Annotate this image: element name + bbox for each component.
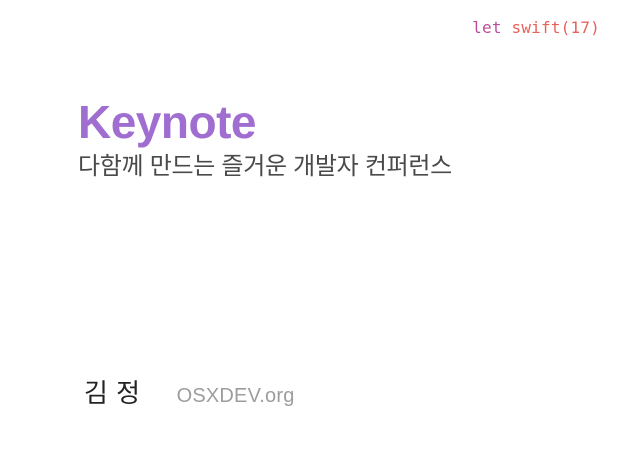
presenter-name: 김 정 <box>84 378 141 408</box>
presenter-block: 김 정 OSXDEV.org <box>84 378 295 408</box>
conference-mark: let swift(17) <box>472 18 600 38</box>
page-title: Keynote <box>78 96 598 148</box>
title-block: Keynote 다함께 만드는 즐거운 개발자 컨퍼런스 <box>78 96 598 182</box>
presenter-organization: OSXDEV.org <box>177 384 295 408</box>
page-subtitle: 다함께 만드는 즐거운 개발자 컨퍼런스 <box>78 152 598 182</box>
conference-keyword-text: let <box>472 18 502 37</box>
presentation-slide: let swift(17) Keynote 다함께 만드는 즐거운 개발자 컨퍼… <box>0 0 640 452</box>
conference-call-text: swift(17) <box>502 18 600 37</box>
